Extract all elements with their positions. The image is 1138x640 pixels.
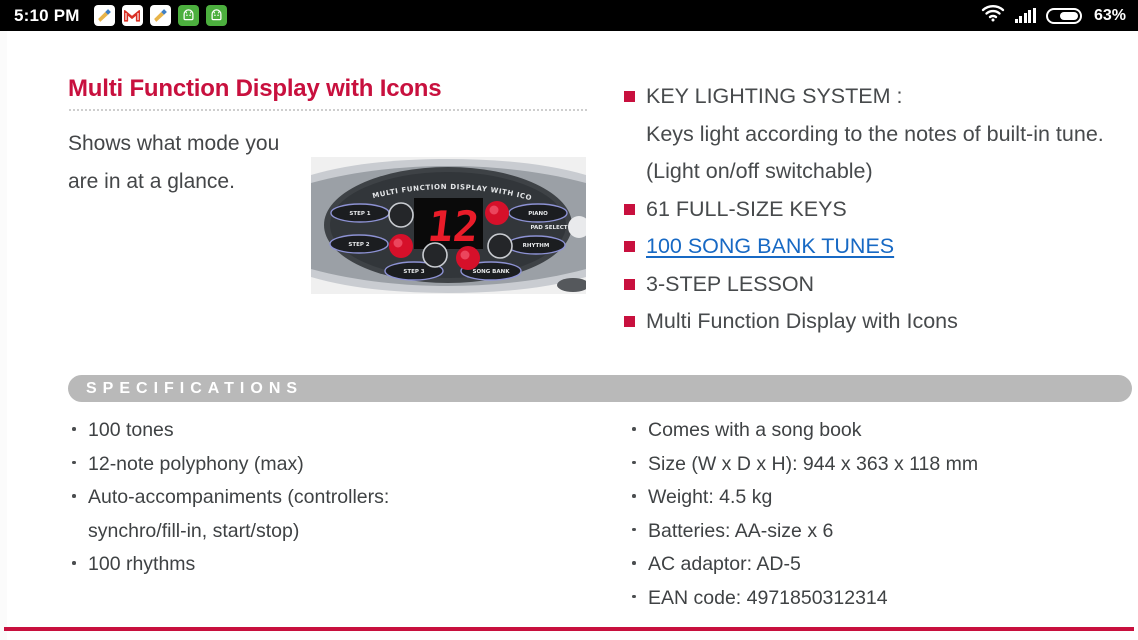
list-item: Auto-accompaniments (controllers: synchr… <box>70 481 590 548</box>
specifications-banner: SPECIFICATIONS <box>68 375 1132 402</box>
dot-bullet-icon <box>632 595 636 599</box>
svg-text:STEP 1: STEP 1 <box>349 211 370 217</box>
cleaner-icon <box>150 5 171 26</box>
page-bottom-rule <box>4 627 1134 631</box>
dot-bullet-icon <box>632 561 636 565</box>
list-item[interactable]: 100 SONG BANK TUNES <box>622 228 1122 266</box>
gmail-icon <box>122 5 143 26</box>
dot-bullet-icon <box>72 461 76 465</box>
list-item: KEY LIGHTING SYSTEM : Keys light accordi… <box>622 78 1122 191</box>
square-bullet-icon <box>624 204 635 215</box>
square-bullet-icon <box>624 91 635 102</box>
list-item: Batteries: AA-size x 6 <box>630 515 1110 549</box>
feature-label: KEY LIGHTING SYSTEM : <box>646 84 902 108</box>
spec-text: Comes with a song book <box>648 419 862 441</box>
feature-description: Shows what mode you are in at a glance. <box>68 125 300 201</box>
svg-text:PAD SELECT: PAD SELECT <box>530 225 567 231</box>
list-item: Comes with a song book <box>630 414 1110 448</box>
webpage-content: Multi Function Display with Icons Shows … <box>0 31 1138 640</box>
android-robot-icon <box>178 5 199 26</box>
svg-text:PIANO: PIANO <box>528 211 548 217</box>
feature-list: KEY LIGHTING SYSTEM : Keys light accordi… <box>622 78 1122 341</box>
list-item: Size (W x D x H): 944 x 363 x 118 mm <box>630 448 1110 482</box>
svg-text:SONG BANK: SONG BANK <box>473 269 511 275</box>
feature-highlights: KEY LIGHTING SYSTEM : Keys light accordi… <box>622 78 1122 341</box>
feature-label: 61 FULL-SIZE KEYS <box>646 197 847 221</box>
cellular-signal-icon <box>1015 8 1036 23</box>
feature-label: Multi Function Display with Icons <box>646 309 958 333</box>
dot-bullet-icon <box>632 461 636 465</box>
svg-text:STEP 3: STEP 3 <box>403 269 424 275</box>
dot-bullet-icon <box>632 494 636 498</box>
battery-icon <box>1046 8 1082 24</box>
specifications-banner-label: SPECIFICATIONS <box>68 380 303 398</box>
square-bullet-icon <box>624 241 635 252</box>
cleaner-icon <box>94 5 115 26</box>
spec-text: AC adaptor: AD-5 <box>648 553 801 575</box>
square-bullet-icon <box>624 316 635 327</box>
dot-bullet-icon <box>632 528 636 532</box>
product-photo: MULTI FUNCTION DISPLAY WITH ICONS 12 STE… <box>311 157 586 294</box>
feature-label: 3-STEP LESSON <box>646 272 814 296</box>
spec-text: Weight: 4.5 kg <box>648 486 772 508</box>
page-left-margin <box>0 31 7 640</box>
square-bullet-icon <box>624 279 635 290</box>
specifications-left-column: 100 tones 12-note polyphony (max) Auto-a… <box>70 414 590 582</box>
android-robot-icon <box>206 5 227 26</box>
dot-bullet-icon <box>72 561 76 565</box>
list-item: AC adaptor: AD-5 <box>630 548 1110 582</box>
spec-text: 100 tones <box>88 419 174 441</box>
specification-list: 100 tones 12-note polyphony (max) Auto-a… <box>70 414 590 582</box>
heading-divider <box>68 109 588 111</box>
spec-text: Batteries: AA-size x 6 <box>648 520 833 542</box>
status-bar-notification-icons <box>94 5 227 26</box>
wifi-icon <box>981 4 1005 27</box>
feature-sublabel: Keys light according to the notes of bui… <box>646 116 1122 191</box>
spec-text: EAN code: 4971850312314 <box>648 587 888 609</box>
list-item: 12-note polyphony (max) <box>70 448 590 482</box>
dot-bullet-icon <box>72 427 76 431</box>
song-bank-tunes-link[interactable]: 100 SONG BANK TUNES <box>646 234 894 258</box>
spec-text: 12-note polyphony (max) <box>88 453 304 475</box>
android-status-bar: 5:10 PM <box>0 0 1138 31</box>
list-item: EAN code: 4971850312314 <box>630 582 1110 616</box>
list-item: 100 rhythms <box>70 548 590 582</box>
list-item: Multi Function Display with Icons <box>622 303 1122 341</box>
status-bar-clock: 5:10 PM <box>14 6 80 26</box>
battery-percent-label: 63% <box>1094 7 1126 25</box>
specifications-right-column: Comes with a song book Size (W x D x H):… <box>630 414 1110 615</box>
list-item: 61 FULL-SIZE KEYS <box>622 191 1122 229</box>
list-item: Weight: 4.5 kg <box>630 481 1110 515</box>
list-item: 3-STEP LESSON <box>622 266 1122 304</box>
list-item: 100 tones <box>70 414 590 448</box>
svg-text:STEP 2: STEP 2 <box>348 242 369 248</box>
svg-text:RHYTHM: RHYTHM <box>523 243 550 249</box>
spec-text-continuation: synchro/fill-in, start/stop) <box>88 515 590 549</box>
spec-text: Auto-accompaniments (controllers: <box>88 486 389 508</box>
page-title: Multi Function Display with Icons <box>68 75 588 103</box>
spec-text: Size (W x D x H): 944 x 363 x 118 mm <box>648 453 978 475</box>
spec-text: 100 rhythms <box>88 553 195 575</box>
specification-list: Comes with a song book Size (W x D x H):… <box>630 414 1110 615</box>
dot-bullet-icon <box>72 494 76 498</box>
dot-bullet-icon <box>632 427 636 431</box>
status-bar-system-icons: 63% <box>981 4 1126 27</box>
